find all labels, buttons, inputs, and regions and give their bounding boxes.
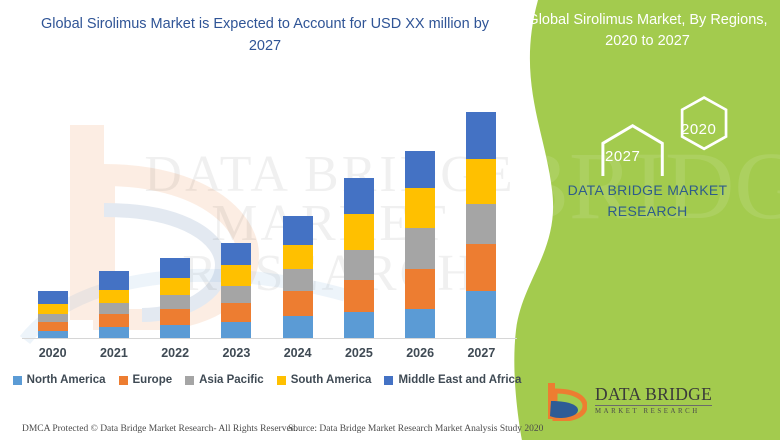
bar-2025[interactable]: [344, 178, 374, 339]
bar-segment: [405, 309, 435, 339]
brand-logo: DATA BRIDGE MARKET RESEARCH: [545, 378, 745, 424]
legend-swatch-icon: [13, 376, 22, 385]
bar-2027[interactable]: [466, 112, 496, 339]
bar-segment: [405, 151, 435, 188]
hexagon-2027-label: 2027: [605, 148, 640, 165]
panel-brand-line2: RESEARCH: [527, 201, 768, 222]
chart-title: Global Sirolimus Market is Expected to A…: [30, 14, 500, 58]
x-axis-label-2027: 2027: [451, 346, 511, 360]
bar-segment: [38, 291, 68, 304]
x-axis-label-2022: 2022: [145, 346, 205, 360]
brand-logo-name: DATA BRIDGE: [595, 386, 712, 406]
bar-segment: [344, 280, 374, 312]
panel-brand-line1: DATA BRIDGE MARKET: [527, 180, 768, 201]
bar-2023[interactable]: [221, 243, 251, 339]
bar-segment: [38, 322, 68, 331]
panel-title: Global Sirolimus Market, By Regions, 202…: [525, 10, 770, 52]
bar-2020[interactable]: [38, 291, 68, 339]
bar-segment: [405, 269, 435, 309]
brand-logo-text: DATA BRIDGE MARKET RESEARCH: [595, 386, 712, 415]
bar-segment: [344, 250, 374, 280]
x-axis-label-2021: 2021: [84, 346, 144, 360]
bar-segment: [160, 309, 190, 325]
bar-segment: [405, 228, 435, 269]
bar-segment: [221, 265, 251, 286]
bar-segment: [99, 290, 129, 303]
x-axis-label-2023: 2023: [206, 346, 266, 360]
bar-segment: [283, 245, 313, 269]
bar-segment: [38, 304, 68, 314]
legend-item-middle-east-and-africa[interactable]: Middle East and Africa: [384, 374, 521, 386]
bar-segment: [160, 278, 190, 295]
bar-segment: [466, 204, 496, 244]
footer-source: Source: Data Bridge Market Research Mark…: [288, 424, 543, 434]
bar-segment: [221, 322, 251, 339]
bar-segment: [466, 112, 496, 159]
bar-segment: [99, 303, 129, 314]
bar-segment: [283, 291, 313, 316]
bar-segment: [283, 269, 313, 291]
bar-2026[interactable]: [405, 151, 435, 339]
bar-segment: [221, 303, 251, 322]
legend-swatch-icon: [119, 376, 128, 385]
legend-item-north-america[interactable]: North America: [13, 374, 106, 386]
hexagon-group: 2020 2027: [547, 86, 762, 176]
bar-segment: [221, 286, 251, 303]
bar-segment: [160, 258, 190, 278]
right-panel: Global Sirolimus Market, By Regions, 202…: [515, 0, 780, 440]
brand-logo-b-icon: [545, 381, 587, 421]
legend-label: South America: [291, 374, 372, 386]
bar-2024[interactable]: [283, 216, 313, 339]
x-axis-label-2026: 2026: [390, 346, 450, 360]
x-axis-labels: 20202021202220232024202520262027: [22, 344, 512, 368]
bar-segment: [344, 214, 374, 250]
x-axis-label-2024: 2024: [268, 346, 328, 360]
hexagon-2020-label: 2020: [681, 121, 716, 138]
footer: DMCA Protected © Data Bridge Market Rese…: [0, 418, 525, 440]
legend-item-asia-pacific[interactable]: Asia Pacific: [185, 374, 264, 386]
bar-segment: [344, 178, 374, 214]
bar-segment: [405, 188, 435, 228]
bar-segment: [466, 244, 496, 291]
bar-segment: [283, 216, 313, 245]
bar-segment: [38, 314, 68, 322]
plot-area: [22, 95, 512, 339]
bar-segment: [466, 159, 496, 204]
bar-segment: [160, 325, 190, 339]
bar-segment: [99, 271, 129, 290]
legend-item-europe[interactable]: Europe: [119, 374, 173, 386]
footer-copyright: DMCA Protected © Data Bridge Market Rese…: [22, 424, 298, 434]
legend-item-south-america[interactable]: South America: [277, 374, 372, 386]
x-axis-label-2020: 2020: [23, 346, 83, 360]
legend-label: Middle East and Africa: [398, 374, 521, 386]
bar-segment: [99, 314, 129, 327]
infographic-root: BRIDGE Global Sirolimus Market, By Regio…: [0, 0, 780, 440]
bar-segment: [221, 243, 251, 265]
legend-label: Asia Pacific: [199, 374, 264, 386]
legend-swatch-icon: [185, 376, 194, 385]
bar-segment: [283, 316, 313, 339]
legend-label: North America: [27, 374, 106, 386]
brand-logo-subtitle: MARKET RESEARCH: [595, 409, 712, 416]
legend-swatch-icon: [277, 376, 286, 385]
bar-segment: [466, 291, 496, 339]
x-axis-label-2025: 2025: [329, 346, 389, 360]
bar-segment: [344, 312, 374, 339]
legend-swatch-icon: [384, 376, 393, 385]
bar-2021[interactable]: [99, 271, 129, 339]
panel-brand-text: DATA BRIDGE MARKET RESEARCH: [527, 180, 768, 222]
bar-2022[interactable]: [160, 258, 190, 339]
chart-legend: North AmericaEuropeAsia PacificSouth Ame…: [22, 374, 512, 386]
legend-label: Europe: [133, 374, 173, 386]
bar-segment: [160, 295, 190, 309]
x-axis-line: [22, 338, 517, 339]
